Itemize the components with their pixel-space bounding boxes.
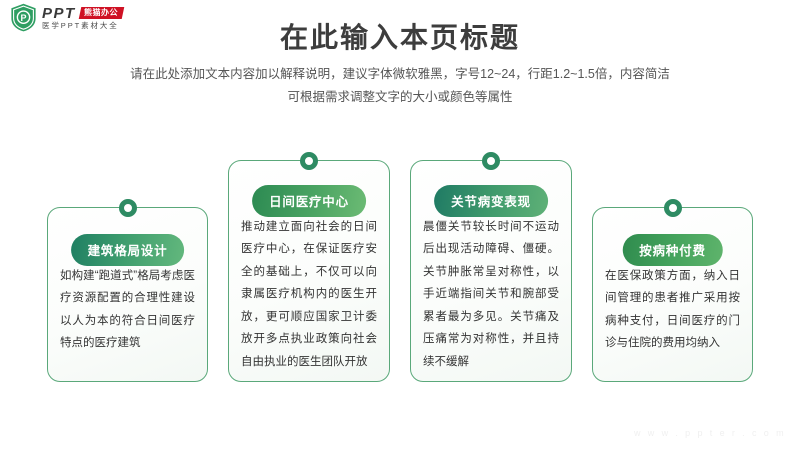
card-badge-label: 日间医疗中心 [252,185,366,217]
info-card[interactable]: 建筑格局设计 如构建“跑道式”格局考虑医疗资源配置的合理性建设以人为本的符合日间… [47,207,208,382]
card-body-text: 在医保政策方面，纳入日间管理的患者推广采用按病种支付，日间医疗的门诊与住院的费用… [605,265,740,355]
circle-marker-icon [482,152,500,170]
circle-marker-icon [300,152,318,170]
info-card[interactable]: 关节病变表现 晨僵关节较长时间不运动后出现活动障碍、僵硬。关节肿胀常呈对称性，以… [410,160,572,382]
card-body-text: 晨僵关节较长时间不运动后出现活动障碍、僵硬。关节肿胀常呈对称性，以手近端指间关节… [423,216,559,373]
info-card[interactable]: 日间医疗中心 推动建立面向社会的日间医疗中心，在保证医疗安全的基础上，不仅可以向… [228,160,390,382]
circle-marker-icon [664,199,682,217]
card-body-text: 如构建“跑道式”格局考虑医疗资源配置的合理性建设以人为本的符合日间医疗特点的医疗… [60,265,195,355]
card-body-text: 推动建立面向社会的日间医疗中心，在保证医疗安全的基础上，不仅可以向隶属医疗机构内… [241,216,377,373]
site-watermark: w w w . p p t e r . c o m [634,428,786,438]
card-row: 建筑格局设计 如构建“跑道式”格局考虑医疗资源配置的合理性建设以人为本的符合日间… [0,0,800,450]
card-badge-label: 建筑格局设计 [71,234,185,266]
circle-marker-icon [119,199,137,217]
card-badge-label: 按病种付费 [622,234,723,266]
card-badge-label: 关节病变表现 [434,185,548,217]
info-card[interactable]: 按病种付费 在医保政策方面，纳入日间管理的患者推广采用按病种支付，日间医疗的门诊… [592,207,753,382]
